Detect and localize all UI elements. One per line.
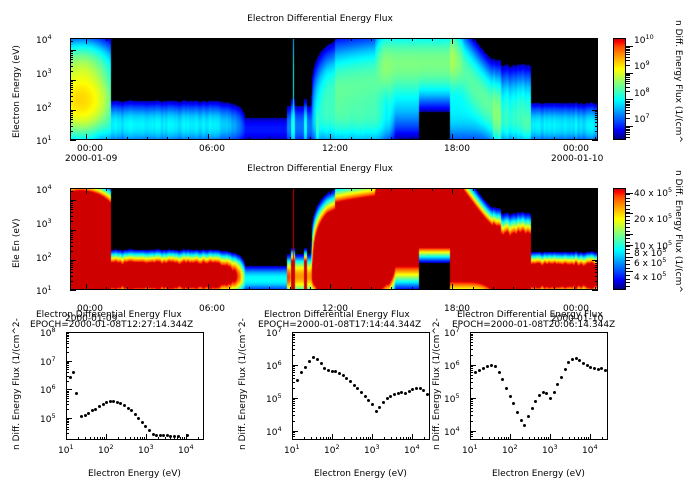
axis-tick-minor (406, 437, 407, 440)
axis-tick-minor (66, 392, 69, 393)
axis-tick (351, 188, 352, 191)
panel2-colorbar[interactable] (613, 188, 626, 290)
axis-tick-minor (85, 437, 86, 440)
axis-tick (332, 434, 333, 440)
spectrum2-xtick-0: 101 (462, 443, 478, 456)
axis-tick (290, 287, 291, 290)
axis-tick-minor (586, 437, 587, 440)
axis-tick (574, 137, 575, 140)
xtick-mantissa: 10 (58, 446, 69, 456)
axis-tick (452, 284, 453, 290)
cbtick-mantissa: 10 (634, 115, 645, 125)
axis-tick (412, 287, 413, 290)
xtick-mantissa: 10 (404, 446, 415, 456)
axis-tick-minor (292, 432, 295, 433)
axis-tick (590, 434, 591, 440)
data-point (367, 399, 370, 402)
axis-tick-minor (292, 370, 295, 371)
axis-tick (510, 434, 511, 440)
axis-tick-minor (534, 437, 535, 440)
colorbar-tick-minor (626, 52, 630, 53)
xtick-mantissa: 10 (178, 446, 189, 456)
axis-tick (391, 287, 392, 290)
axis-tick-minor (70, 126, 73, 127)
axis-tick-minor (292, 401, 295, 402)
axis-tick (188, 38, 189, 41)
axis-tick-minor (470, 399, 473, 400)
data-point (123, 404, 126, 407)
axis-tick-minor (529, 437, 530, 440)
axis-tick-minor (470, 421, 473, 422)
colorbar-tick-minor (626, 282, 630, 283)
data-point (69, 376, 72, 379)
axis-tick-minor (70, 51, 73, 52)
panel1-xtick-2: 12:00 (322, 144, 348, 154)
ytick-exponent: 4 (47, 183, 51, 191)
axis-tick-minor (70, 101, 73, 102)
axis-tick-minor (595, 119, 598, 120)
axis-tick-minor (363, 437, 364, 440)
axis-tick (269, 137, 270, 140)
axis-tick-minor (595, 201, 598, 202)
cbtick-mantissa: 10 (634, 62, 645, 72)
spectrum0-ytick-2: 106 (40, 383, 56, 396)
panel1-xtick-1: 06:00 (199, 144, 225, 154)
panel2-cbtick-5: 4 x 105 (634, 270, 666, 283)
axis-tick (473, 38, 474, 41)
axis-tick-minor (292, 355, 295, 356)
data-point (545, 392, 548, 395)
spectrum1-xlabel: Electron Energy (eV) (314, 469, 407, 479)
axis-tick-minor (595, 203, 598, 204)
axis-tick-minor (595, 87, 598, 88)
axis-tick-minor (304, 437, 305, 440)
axis-tick-minor (70, 203, 73, 204)
colorbar-tick-minor (626, 246, 630, 247)
axis-tick-minor (70, 66, 73, 67)
axis-tick-minor (158, 437, 159, 440)
ytick-mantissa: 10 (36, 137, 47, 147)
axis-tick-minor (292, 368, 295, 369)
axis-tick-minor (66, 338, 69, 339)
axis-tick-minor (595, 231, 598, 232)
axis-tick-minor (595, 235, 598, 236)
colorbar-tick-minor (626, 137, 630, 138)
colorbar-tick-minor (626, 65, 630, 66)
axis-tick-minor (328, 437, 329, 440)
colorbar-tick-minor (626, 279, 630, 280)
axis-tick-minor (66, 343, 69, 344)
axis-tick (310, 137, 311, 140)
data-point (501, 378, 504, 381)
panel1-colorbar[interactable] (613, 38, 626, 140)
colorbar-tick-minor (626, 205, 630, 206)
panel2-ytick-2: 102 (36, 251, 52, 264)
data-point (527, 415, 530, 418)
axis-tick (249, 137, 250, 140)
axis-tick-minor (400, 437, 401, 440)
axis-tick-minor (142, 437, 143, 440)
axis-tick (592, 260, 598, 261)
data-point (478, 369, 481, 372)
axis-tick-minor (97, 437, 98, 440)
axis-tick-minor (541, 437, 542, 440)
ytick-exponent: 5 (51, 412, 55, 420)
spectrum0-xtick-0: 101 (58, 443, 74, 456)
xtick-exponent: 3 (149, 443, 153, 451)
axis-tick-minor (344, 437, 345, 440)
panel2-spectrogram[interactable] (70, 188, 598, 290)
data-point (364, 395, 367, 398)
colorbar-tick-minor (626, 127, 630, 128)
ytick-exponent: 3 (47, 217, 51, 225)
axis-tick (592, 200, 598, 201)
axis-tick-minor (504, 437, 505, 440)
axis-tick-minor (118, 437, 119, 440)
data-point (553, 391, 556, 394)
axis-tick (412, 434, 413, 440)
data-point (316, 358, 319, 361)
data-point (400, 391, 403, 394)
axis-tick (493, 38, 494, 41)
panel1-spectrogram[interactable] (70, 38, 598, 140)
axis-tick-minor (70, 235, 73, 236)
axis-tick-minor (508, 437, 509, 440)
axis-tick-minor (595, 233, 598, 234)
axis-tick (473, 137, 474, 140)
spectrum2-ytick-1: 106 (444, 359, 460, 372)
axis-tick (147, 137, 148, 140)
axis-tick-minor (70, 276, 73, 277)
spectrum1-title: Electron Differential Energy Flux (264, 310, 410, 320)
axis-tick-minor (66, 376, 69, 377)
axis-tick-minor (595, 276, 598, 277)
axis-tick-minor (595, 242, 598, 243)
axis-tick-minor (595, 267, 598, 268)
panel1-xdate-right: 2000-01-10 (551, 154, 603, 164)
cbtick-exponent: 9 (645, 59, 649, 67)
axis-tick-minor (292, 337, 295, 338)
colorbar-tick-minor (626, 238, 630, 239)
axis-tick-minor (522, 437, 523, 440)
axis-tick-minor (595, 263, 598, 264)
axis-tick (432, 287, 433, 290)
axis-tick-minor (470, 408, 473, 409)
axis-tick-minor (70, 212, 73, 213)
axis-tick-minor (70, 263, 73, 264)
axis-tick (452, 134, 453, 140)
axis-tick (147, 38, 148, 41)
spectrum2-plot[interactable] (470, 332, 608, 440)
axis-tick (351, 287, 352, 290)
data-point (490, 364, 493, 367)
data-point (144, 425, 147, 428)
data-point (105, 401, 108, 404)
axis-tick-minor (595, 89, 598, 90)
axis-tick-minor (470, 339, 473, 340)
data-point (498, 371, 501, 374)
axis-tick (412, 38, 413, 41)
colorbar-tick-minor (626, 235, 630, 236)
axis-tick (208, 38, 209, 44)
cbtick-exponent: 5 (662, 246, 666, 254)
axis-tick (229, 137, 230, 140)
data-point (505, 387, 508, 390)
axis-tick-minor (595, 281, 598, 282)
ytick-exponent: 6 (51, 383, 55, 391)
axis-tick-minor (595, 239, 598, 240)
axis-tick-minor (501, 437, 502, 440)
data-point (130, 409, 133, 412)
colorbar-tick-minor (626, 91, 630, 92)
axis-tick-minor (292, 408, 295, 409)
axis-tick-minor (581, 437, 582, 440)
axis-tick (292, 332, 298, 333)
axis-tick-minor (470, 368, 473, 369)
colorbar-tick-minor (626, 75, 630, 76)
axis-tick-minor (595, 261, 598, 262)
ytick-exponent: 7 (277, 326, 281, 334)
axis-tick-minor (66, 335, 69, 336)
axis-tick (106, 137, 107, 140)
axis-tick (513, 188, 514, 191)
spectrum2-title: Electron Differential Energy Flux (457, 310, 603, 320)
data-point (98, 405, 101, 408)
axis-tick-minor (70, 53, 73, 54)
colorbar-tick-minor (626, 77, 630, 78)
axis-tick (70, 140, 76, 141)
axis-tick-minor (130, 437, 131, 440)
axis-tick-minor (70, 87, 73, 88)
xtick-mantissa: 10 (138, 446, 149, 456)
axis-tick-minor (66, 363, 69, 364)
ytick-mantissa: 10 (40, 329, 51, 339)
axis-tick (592, 290, 598, 291)
data-point (531, 407, 534, 410)
axis-tick-minor (391, 437, 392, 440)
cbtick-exponent: 10 (645, 33, 653, 41)
axis-tick (412, 137, 413, 140)
axis-tick-minor (470, 345, 473, 346)
axis-tick-minor (330, 437, 331, 440)
data-point (604, 369, 607, 372)
cbtick-exponent: 7 (645, 112, 649, 120)
axis-tick-minor (70, 207, 73, 208)
axis-tick-minor (66, 409, 69, 410)
axis-tick-minor (595, 101, 598, 102)
axis-tick-minor (66, 381, 69, 382)
axis-tick-minor (562, 437, 563, 440)
axis-tick (86, 188, 87, 194)
spectrum1-xtick-3: 104 (404, 443, 420, 456)
axis-tick-minor (595, 81, 598, 82)
axis-tick-minor (66, 369, 69, 370)
axis-tick-minor (70, 57, 73, 58)
axis-tick-minor (292, 334, 295, 335)
ytick-exponent: 4 (47, 33, 51, 41)
axis-tick-minor (184, 437, 185, 440)
panel2-title: Electron Differential Energy Flux (0, 164, 640, 174)
axis-tick (188, 188, 189, 191)
axis-tick-minor (66, 424, 69, 425)
axis-tick-minor (180, 437, 181, 440)
data-point (338, 372, 341, 375)
axis-tick-minor (470, 375, 473, 376)
axis-tick-minor (470, 349, 473, 350)
axis-tick-minor (595, 246, 598, 247)
panel1-ytick-2: 102 (36, 101, 52, 114)
axis-tick-minor (595, 212, 598, 213)
axis-tick-minor (403, 437, 404, 440)
axis-tick-minor (66, 404, 69, 405)
axis-tick-minor (66, 352, 69, 353)
colorbar-tick-minor (626, 110, 630, 111)
axis-tick-minor (595, 83, 598, 84)
axis-tick-minor (595, 96, 598, 97)
spectrum0-plot[interactable] (66, 332, 204, 440)
axis-tick (70, 290, 76, 291)
cbtick-mantissa: 40 x 10 (634, 189, 668, 199)
colorbar-tick-minor (626, 260, 630, 261)
axis-tick (310, 188, 311, 191)
ytick-exponent: 7 (51, 355, 55, 363)
colorbar-tick-minor (626, 249, 630, 250)
axis-tick (534, 38, 535, 41)
spectrum2-xtick-2: 103 (542, 443, 558, 456)
axis-tick-minor (408, 437, 409, 440)
spectrum0-ylabel: n Diff. Energy Flux (1/(cm^2- (12, 318, 22, 450)
data-point (404, 392, 407, 395)
axis-tick (351, 137, 352, 140)
axis-tick (290, 38, 291, 41)
axis-tick-minor (595, 117, 598, 118)
colorbar-tick-minor (626, 220, 630, 221)
panel1-xtick-4: 00:00 (563, 144, 589, 154)
panel1-ytick-1: 103 (36, 67, 52, 80)
spectrum2-ylabel: n Diff. Energy Flux (1/(cm^2- (432, 318, 442, 450)
axis-tick (106, 434, 107, 440)
axis-tick-minor (595, 115, 598, 116)
colorbar-tick-minor (626, 118, 630, 119)
axis-tick-minor (588, 437, 589, 440)
colorbar-tick-minor (626, 79, 630, 80)
axis-tick-minor (595, 51, 598, 52)
data-point (582, 362, 585, 365)
axis-tick-minor (70, 209, 73, 210)
axis-tick (592, 50, 598, 51)
axis-tick (269, 287, 270, 290)
axis-tick-minor (584, 437, 585, 440)
colorbar-tick-minor (626, 257, 630, 258)
axis-tick-minor (320, 437, 321, 440)
panel1-ytick-0: 104 (36, 33, 52, 46)
spectrum1-subtitle: EPOCH=2000-01-08T17:14:44.344Z (258, 320, 421, 330)
axis-tick-minor (595, 59, 598, 60)
spectrum0-ytick-3: 105 (40, 412, 56, 425)
axis-tick-minor (410, 437, 411, 440)
axis-tick (592, 80, 598, 81)
axis-tick-minor (595, 191, 598, 192)
axis-tick-minor (66, 347, 69, 348)
axis-tick (127, 188, 128, 191)
panel2-cbtick-1: 20 x 105 (634, 212, 672, 225)
axis-tick (371, 188, 372, 191)
panel1-cbtick-0: 1010 (634, 33, 654, 46)
axis-tick (86, 134, 87, 140)
axis-tick (70, 50, 76, 51)
axis-tick-minor (94, 437, 95, 440)
axis-tick-minor (595, 92, 598, 93)
axis-tick-minor (384, 437, 385, 440)
spectrum2-ytick-2: 105 (444, 392, 460, 405)
axis-tick-minor (595, 111, 598, 112)
data-point (482, 367, 485, 370)
ytick-mantissa: 10 (40, 386, 51, 396)
axis-tick (292, 434, 293, 440)
axis-tick (188, 287, 189, 290)
spectrum1-plot[interactable] (292, 332, 430, 440)
cbtick-exponent: 5 (662, 270, 666, 278)
axis-tick (470, 434, 471, 440)
xtick-mantissa: 10 (582, 446, 593, 456)
spectrum1-xtick-0: 101 (284, 443, 300, 456)
data-point (137, 417, 140, 420)
cbtick-exponent: 8 (645, 86, 649, 94)
ytick-mantissa: 10 (444, 329, 455, 339)
ytick-exponent: 6 (277, 359, 281, 367)
axis-tick-minor (546, 437, 547, 440)
axis-tick-minor (595, 269, 598, 270)
axis-tick-minor (70, 191, 73, 192)
axis-tick (167, 137, 168, 140)
axis-tick-minor (140, 437, 141, 440)
ytick-mantissa: 10 (444, 395, 455, 405)
axis-tick-minor (292, 339, 295, 340)
xtick-exponent: 2 (335, 443, 339, 451)
axis-tick-minor (70, 131, 73, 132)
data-point (411, 388, 414, 391)
axis-tick (70, 260, 76, 261)
xtick-mantissa: 10 (284, 446, 295, 456)
colorbar-tick-minor (626, 253, 630, 254)
cbtick-mantissa: 10 (634, 36, 645, 46)
axis-tick-minor (70, 272, 73, 273)
colorbar-tick-minor (626, 223, 630, 224)
axis-tick (470, 332, 476, 333)
spectrum2-ytick-3: 104 (444, 425, 460, 438)
axis-tick (70, 80, 76, 81)
axis-tick-minor (292, 382, 295, 383)
panel1-cbtick-2: 108 (634, 86, 650, 99)
axis-tick (208, 284, 209, 290)
axis-tick (70, 110, 76, 111)
axis-tick-minor (165, 437, 166, 440)
axis-tick-minor (198, 437, 199, 440)
xtick-exponent: 1 (295, 443, 299, 451)
xtick-exponent: 3 (375, 443, 379, 451)
axis-tick-minor (323, 437, 324, 440)
spectrum2-xlabel: Electron Energy (eV) (492, 469, 585, 479)
panel1-xtick-3: 18:00 (444, 144, 470, 154)
colorbar-tick-minor (626, 102, 630, 103)
axis-tick-minor (548, 437, 549, 440)
xtick-mantissa: 10 (98, 446, 109, 456)
ytick-exponent: 2 (47, 101, 51, 109)
axis-tick-minor (66, 421, 69, 422)
axis-tick-minor (424, 437, 425, 440)
axis-tick (127, 137, 128, 140)
axis-tick-minor (70, 265, 73, 266)
